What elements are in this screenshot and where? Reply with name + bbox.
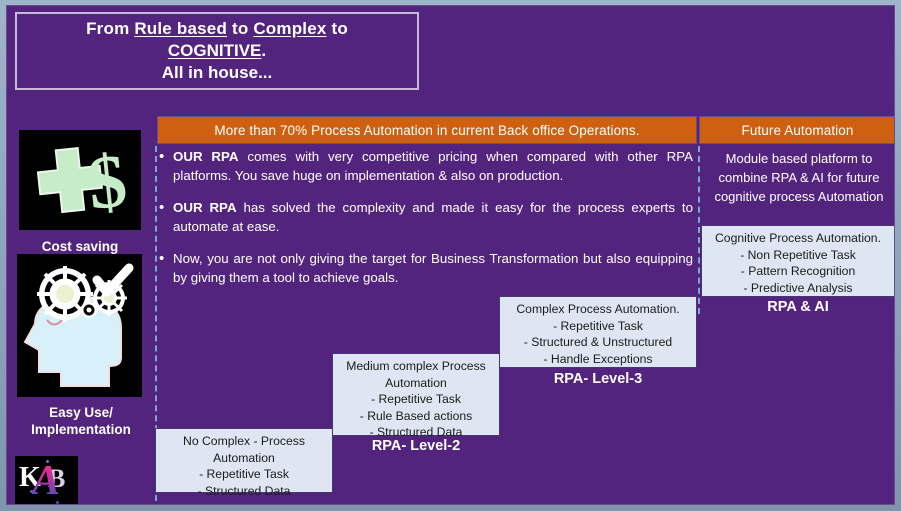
bullet-marker-icon: • — [159, 148, 173, 185]
maturity-box-no-complex: No Complex - Process Automation - Repeti… — [155, 428, 333, 493]
title-underline-cognitive: COGNITIVE — [168, 41, 262, 60]
bullet-body: Now, you are not only giving the target … — [173, 251, 693, 285]
box-item: - Handle Exceptions — [504, 351, 692, 368]
logo-dot-icon — [30, 490, 33, 493]
bullet-body: comes with very competitive pricing when… — [173, 149, 693, 183]
bullet-lead: OUR RPA — [173, 200, 237, 215]
maturity-box-complex: Complex Process Automation. - Repetitive… — [499, 296, 697, 368]
slide-title-box: From Rule based to Complex to COGNITIVE.… — [15, 12, 419, 90]
title-mid: to — [227, 19, 253, 38]
bullet-marker-icon: • — [159, 250, 173, 287]
bullet-marker-icon: • — [159, 199, 173, 236]
bullet-list: • OUR RPA comes with very competitive pr… — [159, 148, 693, 301]
box-item: - Predictive Analysis — [706, 280, 890, 297]
easy-use-label-line-2: Implementation — [11, 421, 151, 438]
bullet-body: has solved the complexity and made it ea… — [173, 200, 693, 234]
box-title: Complex Process Automation. — [504, 301, 692, 318]
maturity-box-medium: Medium complex Process Automation - Repe… — [332, 353, 500, 436]
header-future-automation: Future Automation — [699, 116, 895, 144]
title-period: . — [261, 41, 266, 60]
box-title: Cognitive Process Automation. — [706, 230, 890, 247]
bullet-item: • OUR RPA comes with very competitive pr… — [159, 148, 693, 185]
header-main-automation: More than 70% Process Automation in curr… — [157, 116, 697, 144]
logo-dot-icon — [56, 501, 59, 504]
box-item: - Rule Based actions — [337, 408, 495, 425]
title-underline-rule-based: Rule based — [134, 19, 227, 38]
slide-frame: From Rule based to Complex to COGNITIVE.… — [0, 0, 901, 511]
box-title: Medium complex Process Automation — [337, 358, 495, 391]
bullet-item: • OUR RPA has solved the complexity and … — [159, 199, 693, 236]
easy-use-label: Easy Use/ Implementation — [11, 404, 151, 438]
maturity-box-cognitive: Cognitive Process Automation. - Non Repe… — [701, 225, 895, 297]
cost-saving-label: Cost saving — [15, 238, 145, 255]
bullet-item: • Now, you are not only giving the targe… — [159, 250, 693, 287]
plus-dollar-icon: $ — [19, 130, 141, 230]
box-item: - Repetitive Task — [504, 318, 692, 335]
title-prefix: From — [86, 19, 134, 38]
head-gears-check-icon — [17, 254, 142, 397]
box-item: - Repetitive Task — [160, 466, 328, 483]
caption-rpa-level-2: RPA- Level-2 — [332, 438, 500, 454]
box-item: - Pattern Recognition — [706, 263, 890, 280]
box-title: No Complex - Process Automation — [160, 433, 328, 466]
slide-canvas: From Rule based to Complex to COGNITIVE.… — [6, 5, 895, 505]
title-line-2: COGNITIVE. — [168, 40, 266, 62]
box-item: - Structured Data — [160, 483, 328, 500]
bullet-text: Now, you are not only giving the target … — [173, 250, 693, 287]
title-line-3: All in house... — [162, 62, 273, 84]
bullet-text: OUR RPA comes with very competitive pric… — [173, 148, 693, 185]
easy-use-icon — [17, 254, 142, 397]
kab-logo: K B A — [15, 456, 78, 505]
caption-rpa-level-3: RPA- Level-3 — [499, 371, 697, 387]
box-item: - Repetitive Task — [337, 391, 495, 408]
cost-saving-icon: $ — [19, 130, 141, 230]
caption-rpa-ai: RPA & AI — [701, 299, 895, 315]
easy-use-label-line-1: Easy Use/ — [11, 404, 151, 421]
logo-dot-icon — [46, 460, 49, 463]
future-automation-description: Module based platform to combine RPA & A… — [701, 149, 895, 206]
box-item: - Structured & Unstructured — [504, 334, 692, 351]
logo-letter-a: A — [32, 460, 60, 502]
divider-dashed-right — [698, 146, 700, 314]
bullet-lead: OUR RPA — [173, 149, 239, 164]
box-item: - Non Repetitive Task — [706, 247, 890, 264]
bullet-text: OUR RPA has solved the complexity and ma… — [173, 199, 693, 236]
title-line-1: From Rule based to Complex to — [86, 18, 348, 40]
title-suffix: to — [327, 19, 348, 38]
title-underline-complex: Complex — [253, 19, 326, 38]
